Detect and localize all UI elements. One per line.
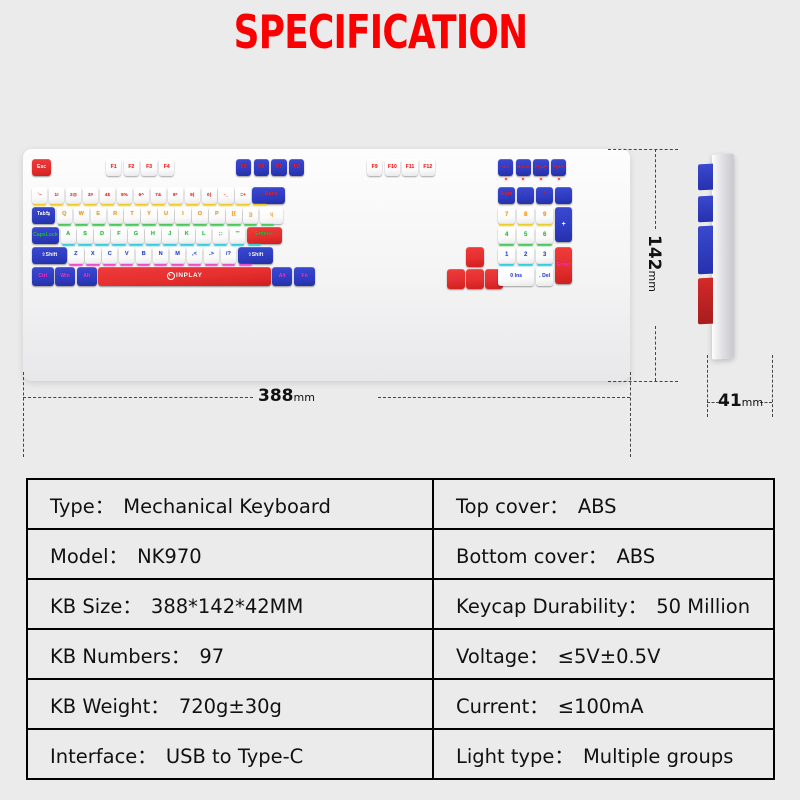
keycap: 2 (517, 247, 534, 264)
backlight-glow (62, 244, 75, 246)
spec-label: Top cover： (456, 495, 569, 518)
guide-width-right (378, 397, 630, 398)
backlight-glow (203, 204, 216, 206)
keycap: ←Back (252, 187, 284, 204)
guide-depth-right (772, 355, 773, 417)
backlight-glow (248, 244, 261, 246)
spec-label: KB Numbers： (50, 645, 190, 668)
keycap: F4 (159, 159, 174, 176)
keycap: 0 Ins (498, 267, 534, 286)
backlight-glow (92, 224, 105, 226)
backlight-glow (518, 224, 533, 226)
backlight-glow (214, 244, 227, 246)
spec-cell-right: Top cover：ABS (433, 479, 774, 529)
backlight-glow (169, 204, 182, 206)
keycap: ;: (213, 227, 228, 244)
guide-left-vertical (23, 372, 24, 457)
backlight-glow (67, 204, 80, 206)
dimension-depth-unit: mm (742, 396, 763, 409)
backlight-glow (159, 224, 172, 226)
backlight-glow (112, 244, 125, 246)
spec-cell-right: Light type：Multiple groups (433, 729, 774, 779)
keycap: Num (498, 187, 515, 204)
keycap: Tab↹ (32, 207, 55, 224)
spec-cell-left: Type：Mechanical Keyboard (27, 479, 433, 529)
guide-height-top (608, 149, 678, 150)
backlight-glow (50, 204, 63, 206)
backlight-glow (210, 224, 223, 226)
spec-cell-left: Interface：USB to Type-C (27, 729, 433, 779)
keycap: ]} (243, 207, 258, 224)
keycap: '" (230, 227, 245, 244)
keycap: Home (516, 159, 531, 176)
keycap: . Del (536, 267, 553, 286)
keycap: G (128, 227, 143, 244)
keyboard-side-body (712, 153, 734, 359)
backlight-glow (227, 224, 240, 226)
spec-cell-left: KB Numbers：97 (27, 629, 433, 679)
table-row: Interface：USB to Type-C Light type：Multi… (27, 729, 774, 779)
keycap: F2 (124, 159, 139, 176)
backlight-glow (78, 244, 91, 246)
keycap: 7& (151, 187, 166, 204)
keycap: 8 (517, 207, 534, 224)
keycap: J (162, 227, 177, 244)
guide-width-left (23, 397, 253, 398)
keycap: 3# (83, 187, 98, 204)
led-indicator (558, 178, 560, 180)
spec-value: ABS (616, 545, 655, 568)
backlight-glow (58, 224, 71, 226)
product-illustration: EscF1F2F3F4F5F6F7F8F9F10F11F12InsHomePgU… (0, 140, 800, 440)
backlight-glow (186, 204, 199, 206)
keyboard-top-view: EscF1F2F3F4F5F6F7F8F9F10F11F12InsHomePgU… (23, 149, 630, 381)
keycap: F (111, 227, 126, 244)
keycap: ⇧Shift (238, 247, 273, 264)
backlight-glow (152, 204, 165, 206)
dimension-depth-value: 41 (718, 391, 742, 411)
table-row: KB Size：388*142*42MM Keycap Durability：5… (27, 579, 774, 629)
keycap: Y (141, 207, 156, 224)
keycap-layout: EscF1F2F3F4F5F6F7F8F9F10F11F12InsHomePgU… (32, 159, 621, 371)
spec-value: 388*142*42MM (151, 595, 303, 618)
keycap: ,< (187, 247, 202, 264)
keycap: Ctrl (32, 267, 54, 286)
specification-table: Type：Mechanical Keyboard Top cover：ABS M… (26, 478, 775, 780)
keycap: =+ (235, 187, 250, 204)
backlight-glow (537, 244, 552, 246)
keycap: 6 (536, 227, 553, 244)
keycap: E (91, 207, 106, 224)
keycap: S (77, 227, 92, 244)
spec-label: Light type： (456, 745, 574, 768)
keycap: 5% (117, 187, 132, 204)
spec-label: KB Weight： (50, 695, 170, 718)
keycap: Alt (272, 267, 292, 286)
keycap: \| (260, 207, 283, 224)
spec-value: 720g±30g (179, 695, 282, 718)
keycap: F12 (420, 159, 435, 176)
keycap: -_ (218, 187, 233, 204)
keycap: Enter↵ (247, 227, 282, 244)
inplay-logo: INPLAY (167, 272, 203, 280)
spec-value: Multiple groups (583, 745, 733, 768)
led-indicator (505, 178, 507, 180)
led-indicator (522, 178, 524, 180)
keycap: 6^ (134, 187, 149, 204)
spec-value: NK970 (137, 545, 202, 568)
backlight-glow (142, 224, 155, 226)
backlight-glow (101, 204, 114, 206)
spec-label: Interface： (50, 745, 157, 768)
guide-depth-left (707, 355, 708, 417)
keycap: .> (204, 247, 219, 264)
keycap: Esc (32, 159, 51, 176)
table-row: Type：Mechanical Keyboard Top cover：ABS (27, 479, 774, 529)
spec-label: Voltage： (456, 645, 549, 668)
backlight-glow (261, 224, 274, 226)
keycap: B (136, 247, 151, 264)
spec-label: Type： (50, 495, 114, 518)
led-indicator (540, 178, 542, 180)
spec-value: 97 (199, 645, 224, 668)
keycap: D (94, 227, 109, 244)
keycap: 1 (498, 247, 515, 264)
keycap: + (555, 207, 572, 243)
keycap: F1 (106, 159, 121, 176)
spec-label: Bottom cover： (456, 545, 607, 568)
guide-right-vertical (630, 372, 631, 457)
spec-label: Keycap Durability： (456, 595, 647, 618)
table-row: KB Numbers：97 Voltage：≤5V±0.5V (27, 629, 774, 679)
backlight-glow (236, 204, 249, 206)
spec-label: KB Size： (50, 595, 142, 618)
keycap: 0) (202, 187, 217, 204)
keycap: 4 (498, 227, 515, 244)
backlight-glow (135, 204, 148, 206)
backlight-glow (180, 244, 193, 246)
backlight-glow (176, 224, 189, 226)
keycap: A (61, 227, 76, 244)
keycap: H (145, 227, 160, 244)
keycap: `~ (32, 187, 47, 204)
keycap: PgDn (551, 159, 566, 176)
backlight-glow (146, 244, 159, 246)
keycap: 9( (185, 187, 200, 204)
backlight-glow (84, 204, 97, 206)
guide-height-line-b (655, 326, 656, 381)
backlight-glow (231, 244, 244, 246)
keycap: C (102, 247, 117, 264)
table-row: KB Weight：720g±30g Current：≤100mA (27, 679, 774, 729)
keycap: X (85, 247, 100, 264)
backlight-glow (75, 224, 88, 226)
spec-label: Current： (456, 695, 549, 718)
keycap: F11 (402, 159, 417, 176)
keycap: R (108, 207, 123, 224)
backlight-glow (33, 204, 46, 206)
spec-value: USB to Type-C (166, 745, 303, 768)
backlight-glow (129, 244, 142, 246)
spacebar: INPLAY (98, 267, 270, 286)
keycap: [{ (226, 207, 241, 224)
keycap: 8* (168, 187, 183, 204)
backlight-glow (118, 204, 131, 206)
keycap: F10 (385, 159, 400, 176)
spec-cell-right: Current：≤100mA (433, 679, 774, 729)
dimension-depth: 41mm (718, 391, 763, 411)
keycap: PgUP (533, 159, 548, 176)
keycap: / (517, 187, 534, 204)
backlight-glow (499, 224, 514, 226)
spec-cell-left: KB Size：388*142*42MM (27, 579, 433, 629)
keycap: F7 (271, 159, 286, 176)
keycap: Ins (498, 159, 513, 176)
backlight-glow (125, 224, 138, 226)
spec-cell-right: Bottom cover：ABS (433, 529, 774, 579)
keycap: - (555, 187, 572, 204)
keycap: 3 (536, 247, 553, 264)
keycap: W (74, 207, 89, 224)
keycap: N (153, 247, 168, 264)
dimension-width: 388mm (258, 386, 315, 406)
guide-height-bottom (608, 381, 678, 382)
brand-name: INPLAY (176, 273, 202, 280)
dimension-height-value: 142 (644, 235, 664, 271)
spec-cell-right: Keycap Durability：50 Million (433, 579, 774, 629)
backlight-glow (518, 244, 533, 246)
keycap: Z (68, 247, 83, 264)
side-keycap (698, 164, 713, 191)
spec-value: ABS (578, 495, 617, 518)
keycap: 5 (517, 227, 534, 244)
spec-cell-right: Voltage：≤5V±0.5V (433, 629, 774, 679)
keycap: Q (57, 207, 72, 224)
dimension-width-unit: mm (294, 391, 315, 404)
backlight-glow (537, 224, 552, 226)
keycap: F8 (289, 159, 304, 176)
keycap: M (170, 247, 185, 264)
backlight-glow (197, 244, 210, 246)
backlight-glow (244, 224, 257, 226)
table-row: Model：NK970 Bottom cover：ABS (27, 529, 774, 579)
keyboard-side-view (690, 150, 760, 375)
backlight-glow (193, 224, 206, 226)
spec-cell-left: KB Weight：720g±30g (27, 679, 433, 729)
keycap: CapsLock (32, 227, 59, 244)
keycap: U (158, 207, 173, 224)
dimension-height: 142mm (644, 235, 664, 292)
keycap: 2@ (66, 187, 81, 204)
dimension-width-value: 388 (258, 386, 294, 406)
keycap: ↑ (466, 247, 484, 267)
keycap: F3 (141, 159, 156, 176)
keycap: P (209, 207, 224, 224)
backlight-glow (163, 244, 176, 246)
keycap: /? (221, 247, 236, 264)
side-keycap (698, 226, 713, 275)
keycap: 9 (536, 207, 553, 224)
page-title: SPECIFICATION (69, 6, 693, 58)
spec-value: Mechanical Keyboard (123, 495, 331, 518)
keycap: ↓ (466, 269, 484, 289)
keycap: F5 (236, 159, 251, 176)
spec-cell-left: Model：NK970 (27, 529, 433, 579)
spec-value: ≤5V±0.5V (558, 645, 661, 668)
keycap: 4$ (100, 187, 115, 204)
spec-value: 50 Million (656, 595, 750, 618)
keycap: I (175, 207, 190, 224)
keycap: K (179, 227, 194, 244)
side-keycap (698, 196, 713, 223)
backlight-glow (499, 244, 514, 246)
keycap: F9 (367, 159, 382, 176)
keycap: O (192, 207, 207, 224)
keycap: T (124, 207, 139, 224)
keycap: ← (447, 269, 465, 289)
specification-table-body: Type：Mechanical Keyboard Top cover：ABS M… (27, 479, 774, 779)
keycap: Fn (294, 267, 316, 286)
backlight-glow (219, 204, 232, 206)
play-icon (167, 272, 175, 280)
keycap: L (196, 227, 211, 244)
backlight-glow (109, 224, 122, 226)
side-keycap (698, 278, 713, 325)
keycap: Win (55, 267, 75, 286)
spec-value: ≤100mA (558, 695, 644, 718)
keycap: ⇧Shift (32, 247, 67, 264)
keycap: Alt (77, 267, 97, 286)
spec-label: Model： (50, 545, 128, 568)
keycap: Enter (555, 247, 572, 285)
keycap: F6 (254, 159, 269, 176)
dimension-height-unit: mm (646, 271, 659, 292)
keycap: V (119, 247, 134, 264)
backlight-glow (253, 204, 266, 206)
backlight-glow (95, 244, 108, 246)
keycap: 1! (49, 187, 64, 204)
guide-height-line-a (655, 149, 656, 229)
keycap: 7 (498, 207, 515, 224)
keycap: * (536, 187, 553, 204)
